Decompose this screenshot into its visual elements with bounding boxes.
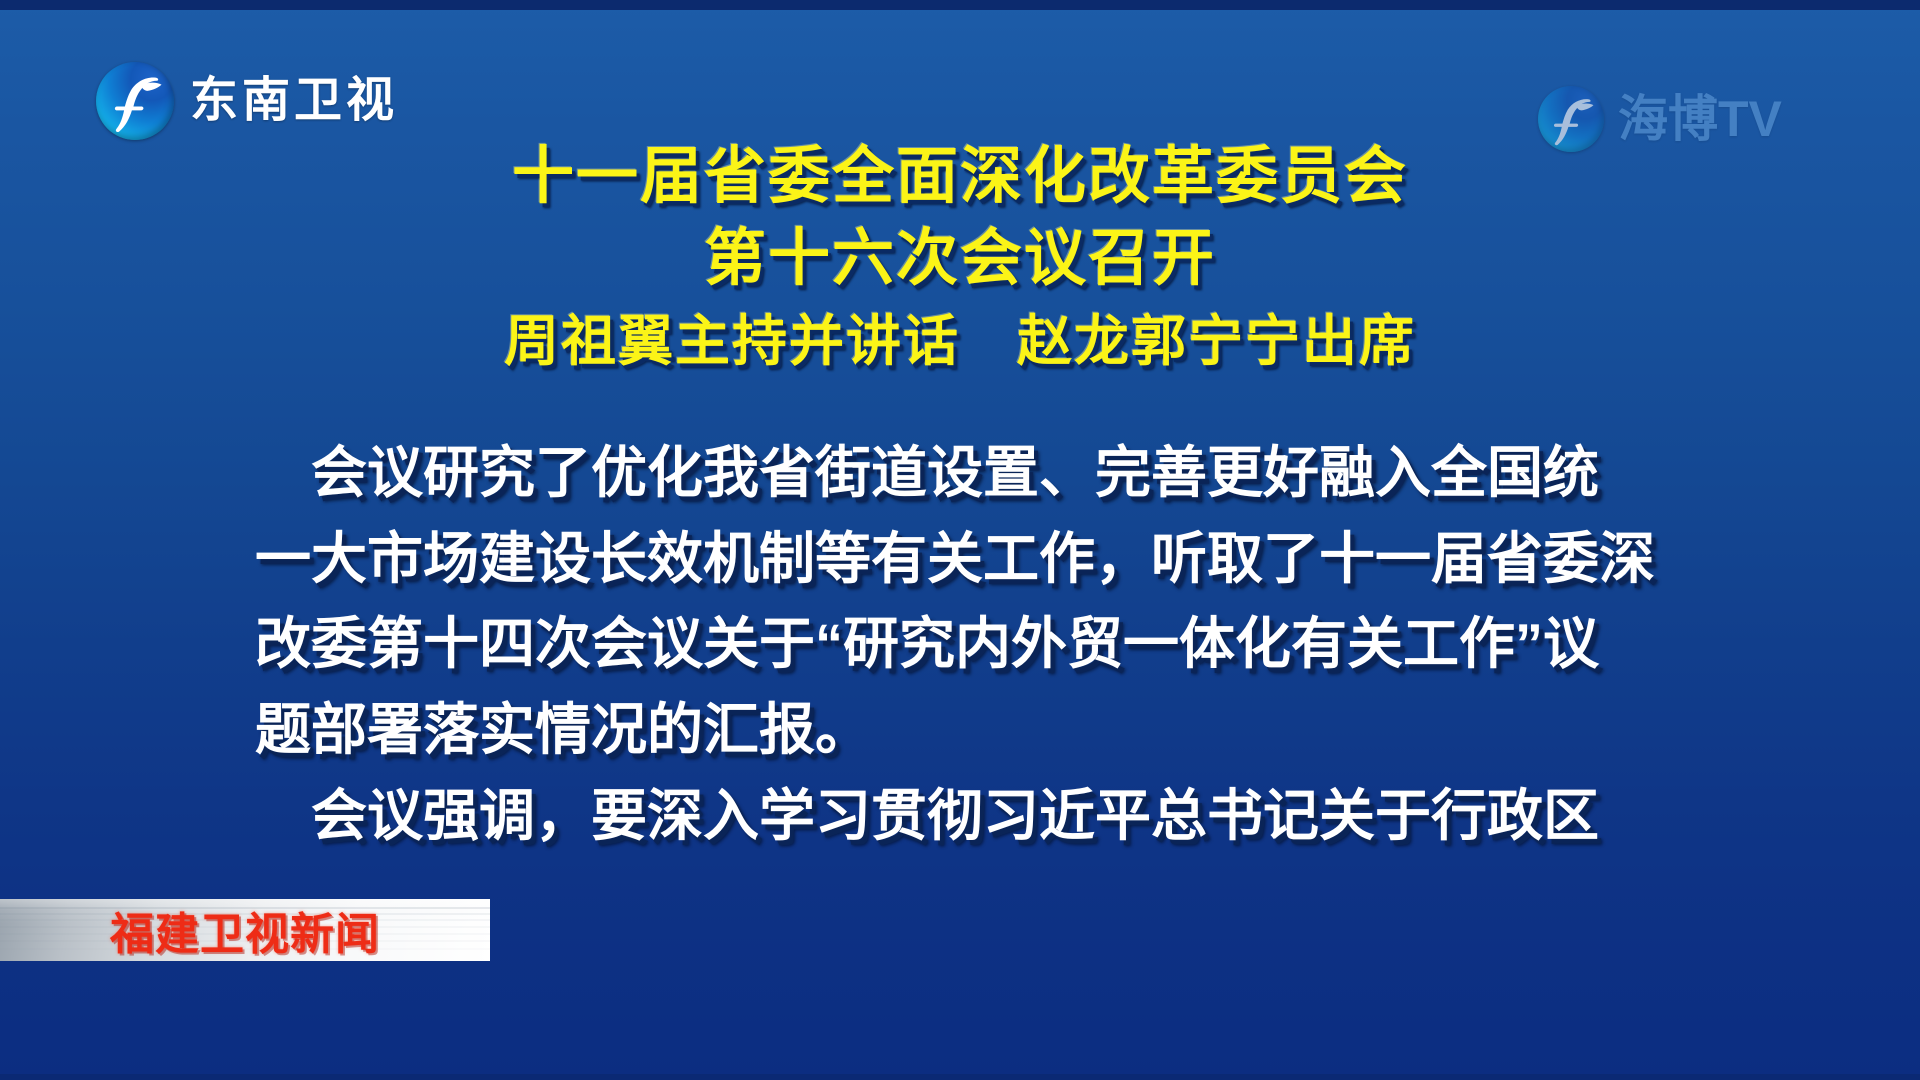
channel-logo-southeast-tv: 东南卫视 <box>96 62 398 140</box>
headline-title-line-1: 十一届省委全面深化改革委员会 <box>0 136 1920 218</box>
headline-title-line-2: 第十六次会议召开 <box>0 218 1920 300</box>
body-copy-block: 会议研究了优化我省街道设置、完善更好融入全国统 一大市场建设长效机制等有关工作，… <box>255 430 1675 858</box>
headline-block: 十一届省委全面深化改革委员会 第十六次会议召开 周祖翼主持并讲话 赵龙郭宁宁出席 <box>0 136 1920 382</box>
program-name-banner: 福建卫视新闻 <box>0 899 490 961</box>
body-line: 会议研究了优化我省街道设置、完善更好融入全国统 <box>255 430 1675 516</box>
body-line: 题部署落实情况的汇报。 <box>255 687 1675 773</box>
headline-subtitle: 周祖翼主持并讲话 赵龙郭宁宁出席 <box>0 300 1920 383</box>
body-line: 会议强调，要深入学习贯彻习近平总书记关于行政区 <box>255 773 1675 859</box>
bottom-letterbox-strip <box>0 1074 1920 1080</box>
body-line: 改委第十四次会议关于“研究内外贸一体化有关工作”议 <box>255 601 1675 687</box>
program-name-label: 福建卫视新闻 <box>0 899 490 961</box>
top-letterbox-strip <box>0 0 1920 10</box>
broadcast-frame: 东南卫视 海博TV 十一届省委全面深化改革委员会 第十六次会议召开 周祖翼主持并… <box>0 0 1920 1080</box>
body-line: 一大市场建设长效机制等有关工作，听取了十一届省委深 <box>255 516 1675 602</box>
fujian-f-bird-icon <box>96 62 174 140</box>
channel-logo-label: 东南卫视 <box>190 77 398 125</box>
